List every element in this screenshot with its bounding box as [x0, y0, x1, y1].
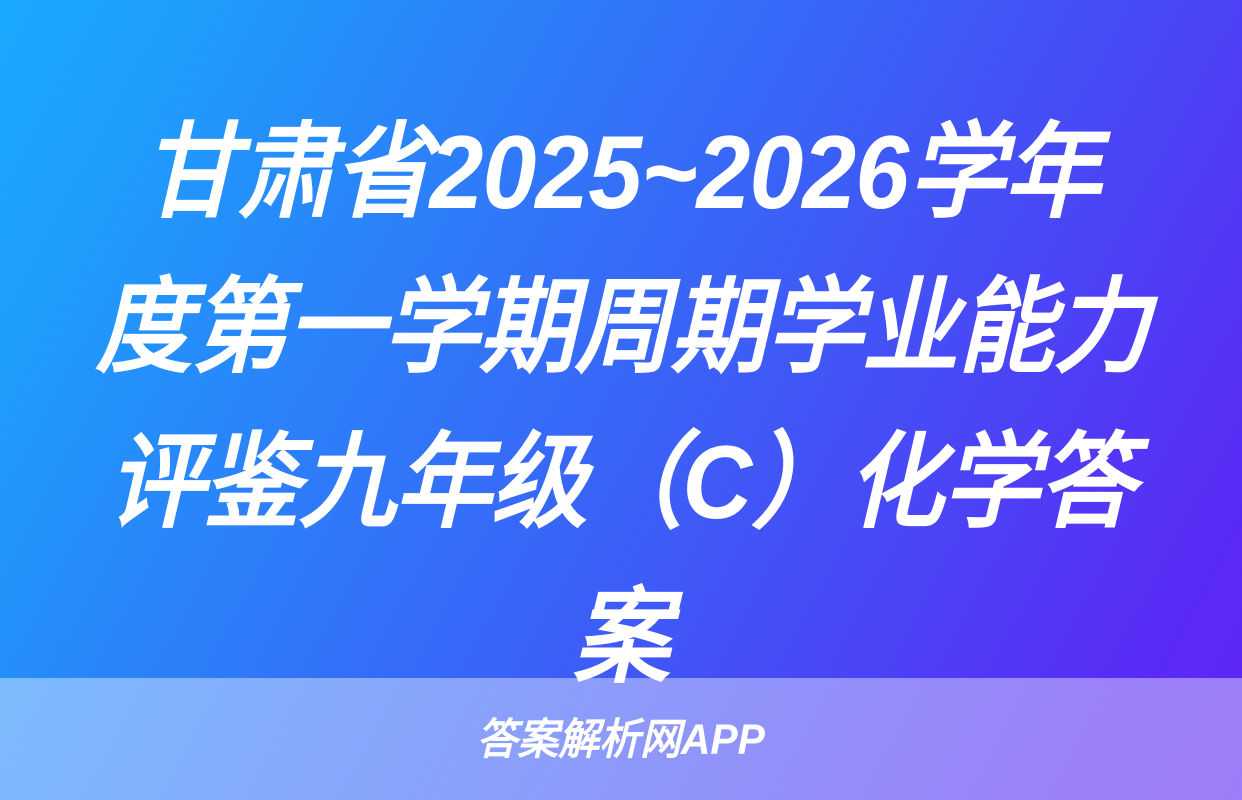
title-line-1: 甘肃省2025~2026学年: [96, 96, 1147, 251]
title-line-2: 度第一学期周期学业能力: [96, 251, 1147, 406]
poster-canvas: 甘肃省2025~2026学年 度第一学期周期学业能力 评鉴九年级（C）化学答 案…: [0, 0, 1242, 800]
page-title: 甘肃省2025~2026学年 度第一学期周期学业能力 评鉴九年级（C）化学答 案: [0, 96, 1242, 716]
watermark-band: 答案解析网APP: [0, 678, 1242, 800]
title-line-3: 评鉴九年级（C）化学答: [96, 406, 1147, 561]
watermark-label: 答案解析网APP: [477, 719, 765, 762]
